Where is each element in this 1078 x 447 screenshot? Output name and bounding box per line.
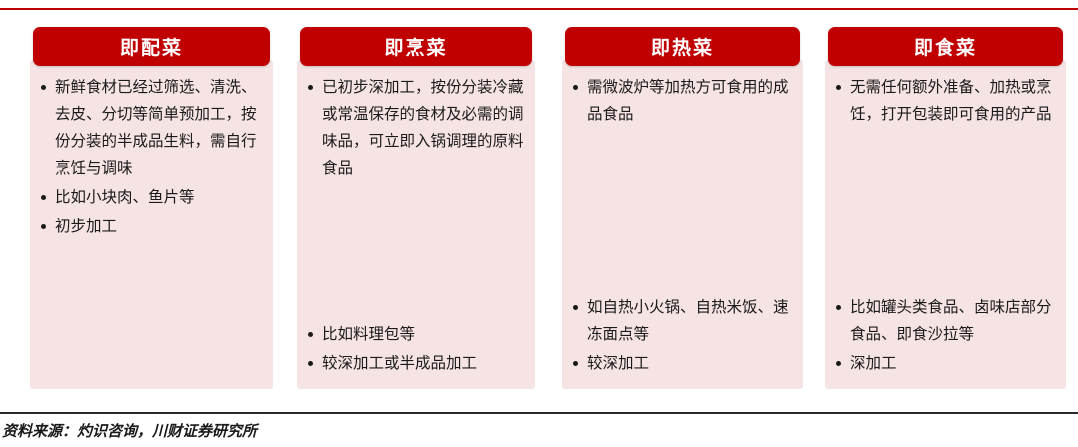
category-bullet-item: 比如小块肉、鱼片等 (36, 184, 267, 211)
category-card-body: 无需任何额外准备、加热或烹饪，打开包装即可食用的产品比如罐头类食品、卤味店部分食… (825, 60, 1066, 389)
category-bullet-item: 比如罐头类食品、卤味店部分食品、即食沙拉等 (831, 294, 1060, 348)
category-bullet-item: 较深加工 (568, 350, 797, 377)
category-bullet-item: 深加工 (831, 350, 1060, 377)
category-bullet-list: 已初步深加工，按份分装冷藏或常温保存的食材及必需的调味品，可立即入锅调理的原料食… (303, 74, 529, 377)
category-card: 即烹菜已初步深加工，按份分装冷藏或常温保存的食材及必需的调味品，可立即入锅调理的… (300, 27, 532, 389)
category-card-header: 即热菜 (565, 27, 800, 66)
category-bullet-item: 新鲜食材已经过筛选、清洗、去皮、分切等简单预加工，按份分装的半成品生料，需自行烹… (36, 74, 267, 182)
category-card-grid: 即配菜新鲜食材已经过筛选、清洗、去皮、分切等简单预加工，按份分装的半成品生料，需… (0, 27, 1078, 389)
category-bullet-item: 无需任何额外准备、加热或烹饪，打开包装即可食用的产品 (831, 74, 1060, 128)
top-divider-rule (0, 8, 1078, 10)
category-card: 即配菜新鲜食材已经过筛选、清洗、去皮、分切等简单预加工，按份分装的半成品生料，需… (33, 27, 270, 389)
category-bullet-item: 初步加工 (36, 213, 267, 240)
category-card-header: 即配菜 (33, 27, 270, 66)
bullet-spacer (303, 184, 529, 321)
category-card-body: 已初步深加工，按份分装冷藏或常温保存的食材及必需的调味品，可立即入锅调理的原料食… (297, 60, 535, 389)
category-bullet-item: 较深加工或半成品加工 (303, 350, 529, 377)
category-bullet-item: 比如料理包等 (303, 321, 529, 348)
bullet-spacer (568, 130, 797, 294)
category-card-title: 即食菜 (914, 33, 977, 60)
category-bullet-item: 需微波炉等加热方可食用的成品食品 (568, 74, 797, 128)
category-bullet-list: 需微波炉等加热方可食用的成品食品如自热小火锅、自热米饭、速冻面点等较深加工 (568, 74, 797, 377)
category-card: 即食菜无需任何额外准备、加热或烹饪，打开包装即可食用的产品比如罐头类食品、卤味店… (828, 27, 1063, 389)
category-card-body: 新鲜食材已经过筛选、清洗、去皮、分切等简单预加工，按份分装的半成品生料，需自行烹… (30, 60, 273, 389)
category-card: 即热菜需微波炉等加热方可食用的成品食品如自热小火锅、自热米饭、速冻面点等较深加工 (565, 27, 800, 389)
category-card-title: 即配菜 (120, 33, 183, 60)
bullet-spacer (831, 130, 1060, 294)
category-bullet-item: 已初步深加工，按份分装冷藏或常温保存的食材及必需的调味品，可立即入锅调理的原料食… (303, 74, 529, 182)
category-bullet-item: 如自热小火锅、自热米饭、速冻面点等 (568, 294, 797, 348)
category-bullet-list: 新鲜食材已经过筛选、清洗、去皮、分切等简单预加工，按份分装的半成品生料，需自行烹… (36, 74, 267, 240)
category-card-title: 即热菜 (651, 33, 714, 60)
category-card-body: 需微波炉等加热方可食用的成品食品如自热小火锅、自热米饭、速冻面点等较深加工 (562, 60, 803, 389)
category-card-header: 即食菜 (828, 27, 1063, 66)
category-card-header: 即烹菜 (300, 27, 532, 66)
category-card-title: 即烹菜 (384, 33, 447, 60)
source-note: 资料来源：灼识咨询，川财证券研究所 (2, 420, 257, 441)
category-bullet-list: 无需任何额外准备、加热或烹饪，打开包装即可食用的产品比如罐头类食品、卤味店部分食… (831, 74, 1060, 377)
footer-divider-rule (0, 412, 1078, 414)
